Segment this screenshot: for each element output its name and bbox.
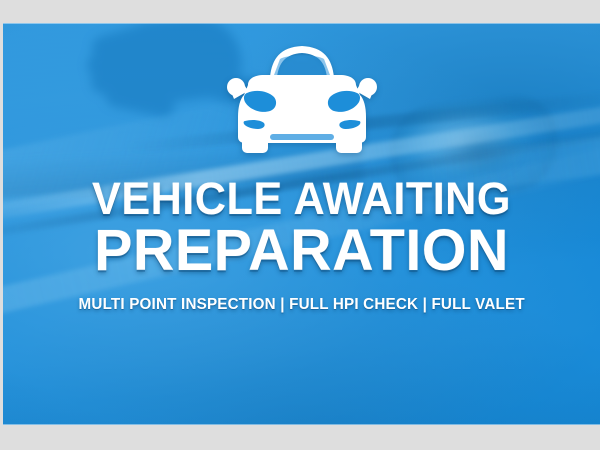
- car-front-icon: [218, 37, 386, 159]
- vehicle-preparation-placard: VEHICLE AWAITING PREPARATION MULTI POINT…: [0, 0, 600, 450]
- services-subheading: MULTI POINT INSPECTION | FULL HPI CHECK …: [78, 296, 524, 314]
- panel-bottom-seam: [3, 424, 600, 425]
- panel-top-seam: [3, 23, 600, 24]
- headline-line-2: PREPARATION: [6, 223, 597, 280]
- headline-block: VEHICLE AWAITING PREPARATION: [3, 177, 600, 280]
- placard-content: VEHICLE AWAITING PREPARATION MULTI POINT…: [3, 23, 600, 425]
- blue-photo-panel: VEHICLE AWAITING PREPARATION MULTI POINT…: [3, 23, 600, 425]
- headline-line-1: VEHICLE AWAITING: [15, 177, 588, 221]
